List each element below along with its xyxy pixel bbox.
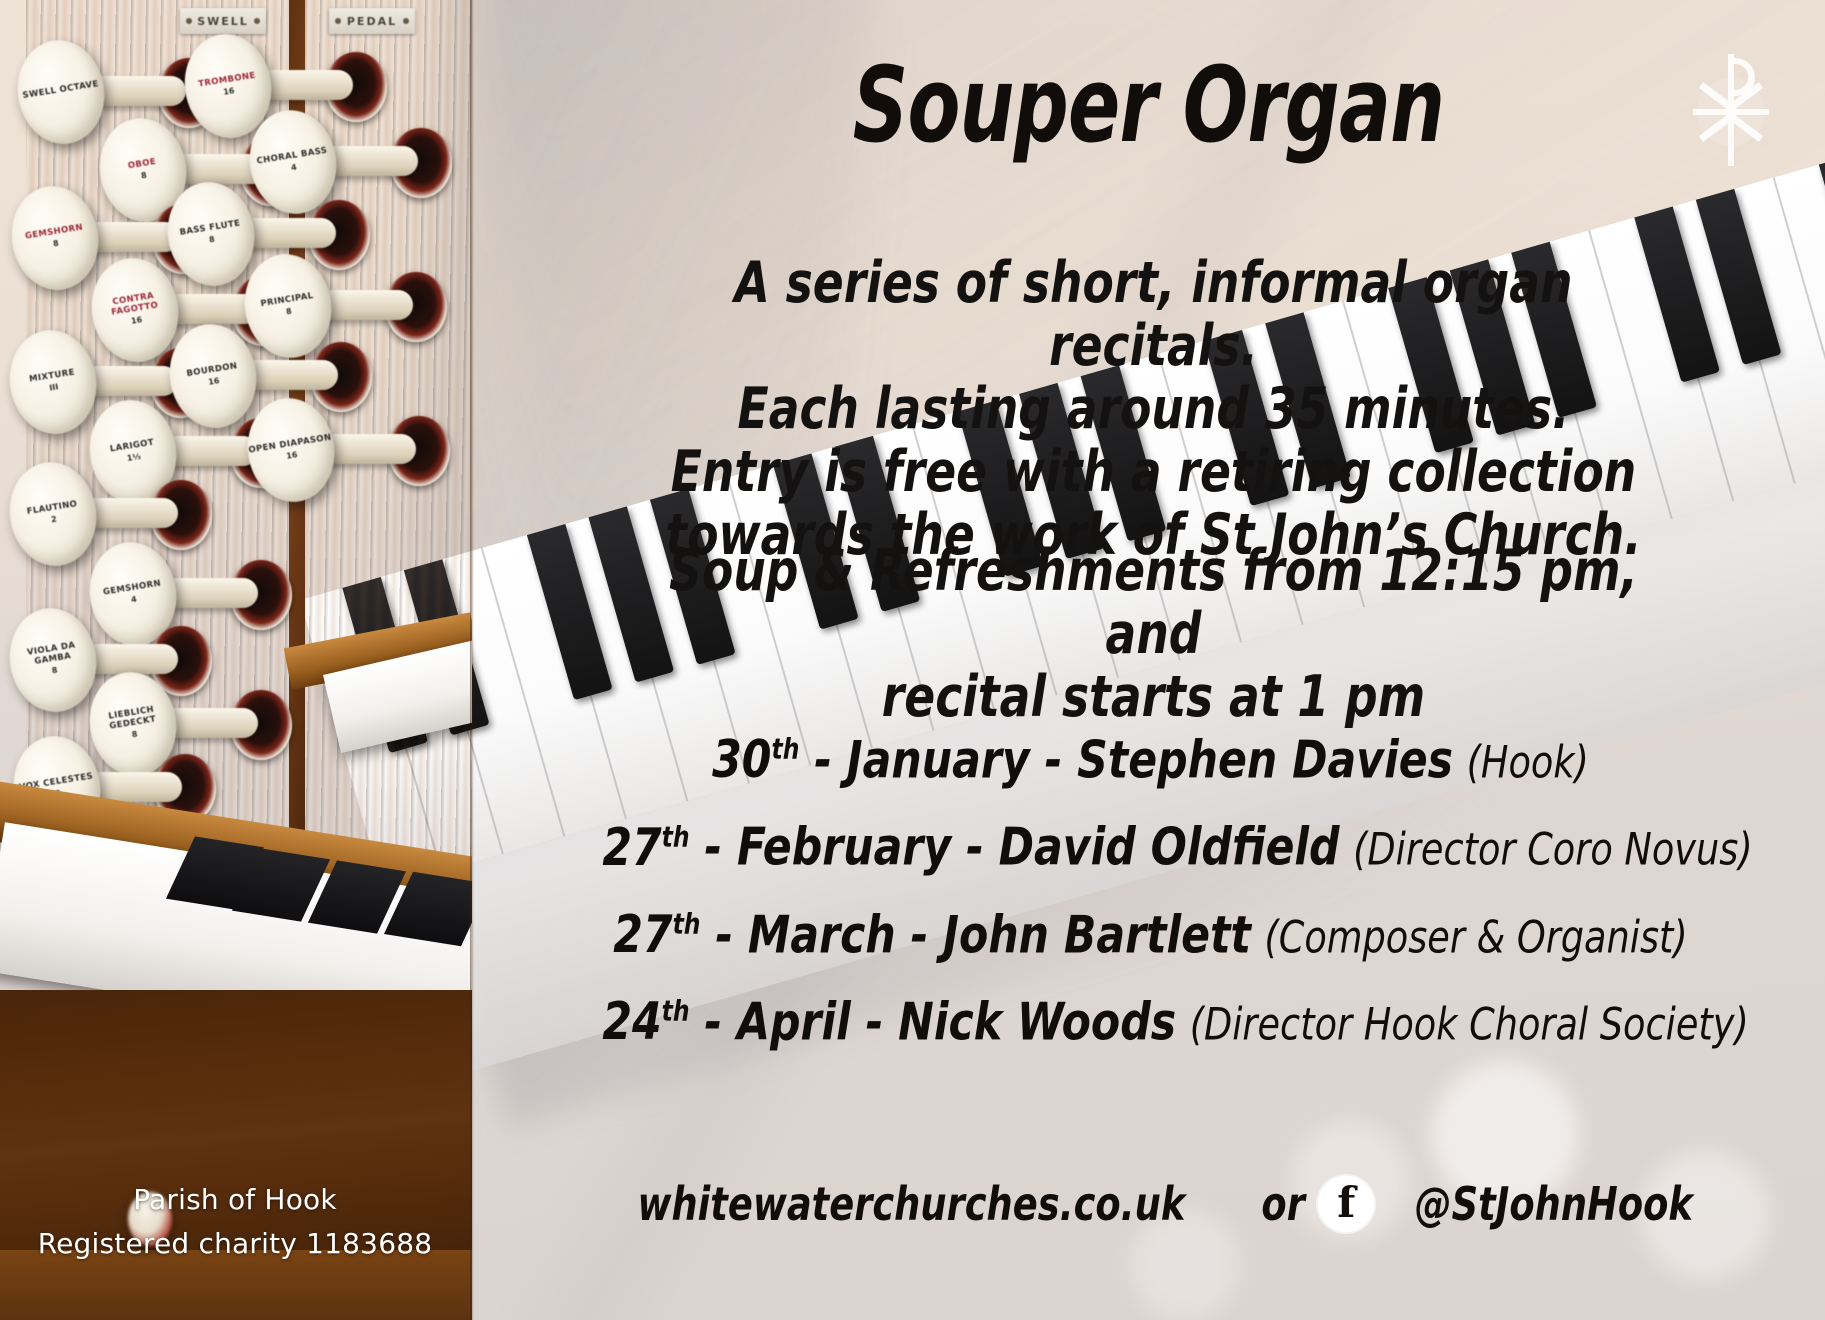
parish-name: Parish of Hook — [0, 1178, 470, 1222]
blurb-line: A series of short, informal organ recita… — [640, 252, 1666, 378]
list-item: 24th - April - Nick Woods (Director Hook… — [602, 974, 1698, 1061]
list-item: 27th - March - John Bartlett (Composer &… — [602, 887, 1698, 974]
background-photo-left-organ-console: SWELL PEDAL SWELL OCTAVE TROMBONE16 — [0, 0, 472, 1320]
poster-content: Souper Organ A series of short, informal… — [472, 0, 1825, 1320]
chi-rho-icon — [1691, 50, 1787, 170]
list-item: 27th - February - David Oldfield (Direct… — [602, 799, 1698, 886]
plaque-pedal: PEDAL — [329, 8, 415, 34]
plaque-swell: SWELL — [180, 8, 266, 34]
description-block: A series of short, informal organ recita… — [640, 252, 1666, 567]
website-link[interactable]: whitewaterchurches.co.uk — [638, 1177, 1186, 1231]
footer-contact: whitewaterchurches.co.uk or @StJohnHook — [472, 1176, 1825, 1232]
charity-number: Registered charity 1183688 — [0, 1222, 470, 1266]
charity-info: Parish of Hook Registered charity 118368… — [0, 1178, 470, 1266]
poster-root: Wv ww — [0, 0, 1825, 1320]
blurb-line: Entry is free with a retiring collection — [640, 441, 1666, 504]
times-line: Soup & Refreshments from 12:15 pm, and — [640, 540, 1666, 666]
footer-conjunction: or — [1261, 1177, 1304, 1231]
page-title: Souper Organ — [648, 50, 1649, 160]
facebook-icon[interactable] — [1318, 1176, 1374, 1232]
recital-list: 30th - January - Stephen Davies (Hook) 2… — [602, 712, 1698, 1061]
list-item: 30th - January - Stephen Davies (Hook) — [602, 712, 1698, 799]
times-block: Soup & Refreshments from 12:15 pm, and r… — [640, 540, 1666, 729]
facebook-handle[interactable]: @StJohnHook — [1415, 1177, 1693, 1231]
blurb-line: Each lasting around 35 minutes. — [640, 378, 1666, 441]
